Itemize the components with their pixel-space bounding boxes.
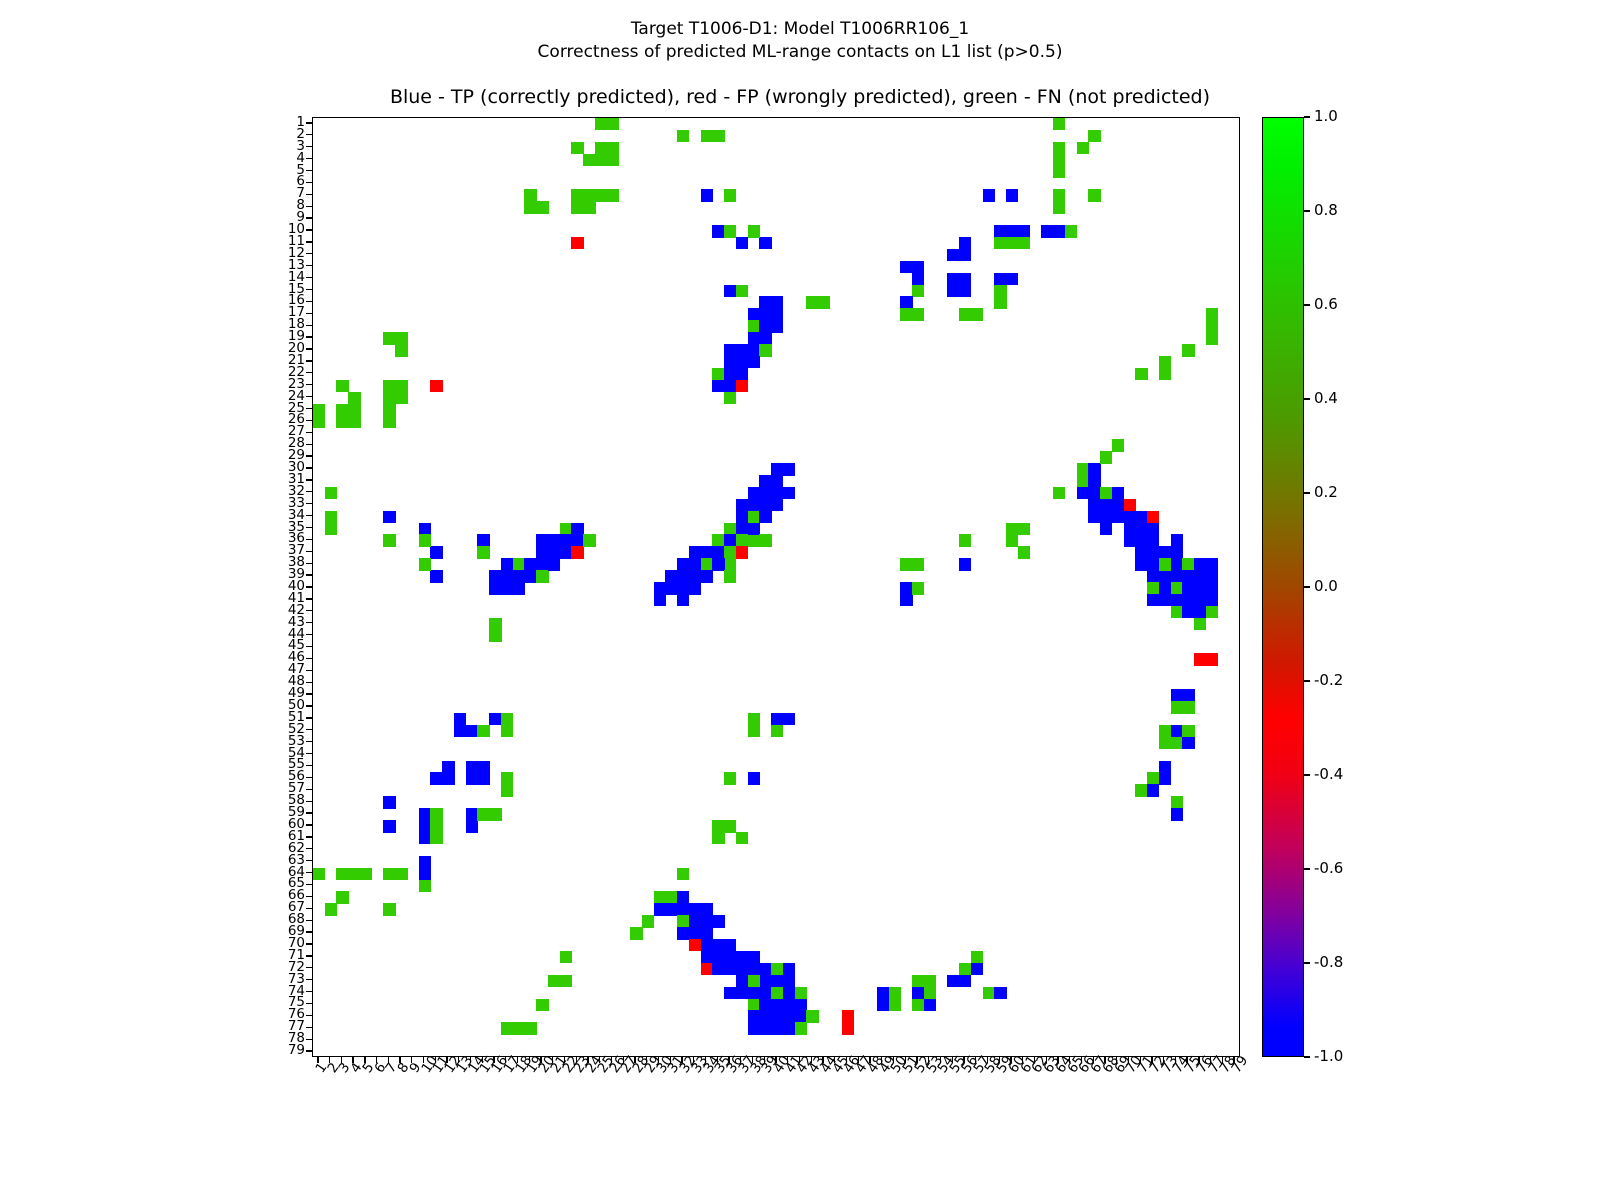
contact-cell-tp — [712, 546, 724, 558]
contact-cell-fn — [724, 225, 736, 237]
contact-cell-tp — [677, 570, 689, 582]
contact-cell-fn — [795, 1022, 807, 1034]
contact-cell-tp — [983, 189, 995, 201]
contact-cell-tp — [759, 1022, 771, 1034]
contact-cell-fn — [1112, 439, 1124, 451]
contact-cell-tp — [1006, 189, 1018, 201]
contact-cell-tp — [548, 534, 560, 546]
contact-cell-tp — [783, 1010, 795, 1022]
contact-cell-tp — [783, 487, 795, 499]
contact-cell-tp — [1171, 558, 1183, 570]
contact-cell-tp — [712, 915, 724, 927]
colorbar-tick-label: -0.2 — [1314, 673, 1343, 687]
contact-cell-tp — [689, 927, 701, 939]
contact-cell-fn — [583, 189, 595, 201]
contact-cell-tp — [677, 594, 689, 606]
contact-cell-tp — [759, 1010, 771, 1022]
contact-cell-fn — [607, 118, 619, 130]
contact-cell-tp — [419, 808, 431, 820]
contact-cell-tp — [1159, 772, 1171, 784]
contact-cell-tp — [689, 546, 701, 558]
y-tick-mark — [306, 1027, 312, 1028]
contact-cell-tp — [1088, 475, 1100, 487]
contact-cell-fn — [912, 975, 924, 987]
contact-cell-tp — [759, 320, 771, 332]
contact-cell-fn — [1053, 154, 1065, 166]
contact-cell-fn — [748, 534, 760, 546]
contact-cell-tp — [924, 999, 936, 1011]
contact-cell-fn — [1159, 368, 1171, 380]
contact-cell-fn — [1053, 487, 1065, 499]
contact-cell-fn — [313, 404, 325, 416]
contact-cell-fn — [501, 725, 513, 737]
contact-cell-tp — [1006, 273, 1018, 285]
contact-map-plot[interactable] — [312, 117, 1240, 1057]
contact-cell-fn — [571, 142, 583, 154]
contact-cell-tp — [689, 570, 701, 582]
y-tick-mark — [306, 658, 312, 659]
contact-cell-tp — [419, 856, 431, 868]
contact-cell-tp — [701, 546, 713, 558]
contact-cell-tp — [712, 963, 724, 975]
contact-cell-fn — [759, 344, 771, 356]
contact-cell-tp — [1182, 594, 1194, 606]
contact-cell-tp — [724, 939, 736, 951]
contact-cell-fn — [336, 868, 348, 880]
contact-cell-tp — [748, 1022, 760, 1034]
contact-cell-tp — [1171, 546, 1183, 558]
y-tick-mark — [306, 705, 312, 706]
contact-cell-tp — [748, 772, 760, 784]
contact-cell-tp — [548, 558, 560, 570]
contact-cell-fn — [724, 546, 736, 558]
colorbar-tick-label: 0.4 — [1314, 391, 1338, 405]
contact-cell-fn — [395, 344, 407, 356]
y-tick-mark — [306, 1015, 312, 1016]
contact-cell-fn — [1159, 725, 1171, 737]
contact-cell-fn — [419, 534, 431, 546]
colorbar-tick-label: 0.8 — [1314, 203, 1338, 217]
contact-cell-tp — [501, 570, 513, 582]
y-tick-mark — [306, 955, 312, 956]
contact-cell-fn — [806, 1010, 818, 1022]
contact-cell-fn — [748, 511, 760, 523]
contact-cell-fn — [430, 808, 442, 820]
contact-cell-fn — [712, 832, 724, 844]
contact-cell-tp — [1147, 784, 1159, 796]
y-tick-mark — [306, 122, 312, 123]
contact-cell-fn — [736, 534, 748, 546]
contact-cell-tp — [947, 249, 959, 261]
contact-cell-tp — [665, 582, 677, 594]
contact-cell-tp — [1077, 487, 1089, 499]
contact-cell-tp — [1041, 225, 1053, 237]
contact-cell-tp — [524, 570, 536, 582]
contact-cell-fn — [336, 404, 348, 416]
contact-cell-fn — [712, 130, 724, 142]
contact-cell-tp — [783, 975, 795, 987]
contact-cell-tp — [654, 903, 666, 915]
contact-cell-fn — [1006, 534, 1018, 546]
contact-cell-fn — [712, 534, 724, 546]
contact-cell-fn — [348, 392, 360, 404]
contact-cell-tp — [748, 356, 760, 368]
contact-cell-tp — [759, 308, 771, 320]
contact-cell-tp — [383, 820, 395, 832]
figure-title: Target T1006-D1: Model T1006RR106_1 Corr… — [0, 18, 1600, 64]
y-tick-mark — [306, 301, 312, 302]
contact-cell-fn — [959, 308, 971, 320]
contact-cell-tp — [947, 975, 959, 987]
contact-cell-tp — [759, 475, 771, 487]
contact-cell-tp — [736, 499, 748, 511]
contact-cell-fn — [489, 618, 501, 630]
contact-cell-fn — [1053, 189, 1065, 201]
contact-cell-tp — [1135, 558, 1147, 570]
y-tick-mark — [306, 325, 312, 326]
contact-cell-fn — [1171, 606, 1183, 618]
contact-cell-tp — [783, 963, 795, 975]
y-tick-mark — [306, 253, 312, 254]
contact-cell-fn — [1182, 558, 1194, 570]
contact-cell-tp — [513, 570, 525, 582]
y-tick-mark — [306, 432, 312, 433]
contact-cell-fn — [1053, 118, 1065, 130]
contact-cell-fn — [1182, 725, 1194, 737]
y-tick-mark — [306, 241, 312, 242]
y-tick-mark — [306, 670, 312, 671]
contact-cell-tp — [689, 915, 701, 927]
contact-cell-fp — [842, 1010, 854, 1022]
contact-cell-tp — [513, 582, 525, 594]
contact-cell-tp — [736, 237, 748, 249]
contact-cell-tp — [466, 772, 478, 784]
contact-cell-tp — [771, 499, 783, 511]
contact-cell-fn — [1159, 737, 1171, 749]
y-tick-mark — [306, 503, 312, 504]
contact-cell-tp — [736, 951, 748, 963]
contact-cell-tp — [1100, 511, 1112, 523]
contact-cell-tp — [489, 570, 501, 582]
contact-cell-tp — [912, 273, 924, 285]
contact-cell-fn — [900, 308, 912, 320]
contact-cell-tp — [1171, 808, 1183, 820]
contact-cell-fn — [477, 725, 489, 737]
colorbar-tick-label: -0.8 — [1314, 955, 1343, 969]
contact-cell-tp — [524, 558, 536, 570]
contact-cell-fn — [900, 558, 912, 570]
contact-cell-tp — [477, 772, 489, 784]
y-tick-mark — [306, 408, 312, 409]
y-tick-label: 79 — [288, 1044, 305, 1056]
y-tick-mark — [306, 134, 312, 135]
y-tick-mark — [306, 622, 312, 623]
contact-cell-fp — [571, 237, 583, 249]
contact-cell-tp — [1159, 761, 1171, 773]
contact-cell-fn — [912, 285, 924, 297]
contact-cell-tp — [1194, 570, 1206, 582]
contact-cell-tp — [689, 582, 701, 594]
contact-cell-fn — [383, 392, 395, 404]
y-tick-mark — [306, 979, 312, 980]
contact-cell-fn — [536, 999, 548, 1011]
contact-cell-fn — [501, 784, 513, 796]
contact-cell-fn — [336, 380, 348, 392]
contact-cell-tp — [712, 939, 724, 951]
contact-cell-tp — [783, 713, 795, 725]
contact-cell-tp — [748, 308, 760, 320]
y-tick-mark — [306, 741, 312, 742]
contact-cell-fn — [524, 201, 536, 213]
contact-cell-fn — [1100, 451, 1112, 463]
contact-cell-fp — [1147, 511, 1159, 523]
contact-cell-tp — [877, 987, 889, 999]
contact-cell-fn — [536, 570, 548, 582]
contact-cell-tp — [1135, 511, 1147, 523]
contact-cell-fn — [383, 332, 395, 344]
contact-cell-fn — [724, 558, 736, 570]
contact-cell-fn — [595, 189, 607, 201]
contact-cell-fn — [325, 511, 337, 523]
contact-cell-tp — [712, 380, 724, 392]
y-tick-mark — [306, 884, 312, 885]
contact-cell-tp — [783, 999, 795, 1011]
colorbar-tick-label: -0.6 — [1314, 861, 1343, 875]
y-tick-mark — [306, 574, 312, 575]
contact-cell-tp — [1006, 225, 1018, 237]
contact-cell-tp — [748, 1010, 760, 1022]
contact-cell-tp — [1088, 511, 1100, 523]
contact-cell-tp — [771, 1010, 783, 1022]
contact-cell-fn — [395, 332, 407, 344]
contact-cell-fn — [513, 1022, 525, 1034]
contact-cell-fn — [501, 1022, 513, 1034]
contact-cell-tp — [1147, 534, 1159, 546]
y-tick-mark — [306, 515, 312, 516]
y-tick-mark — [306, 967, 312, 968]
contact-cell-fn — [994, 285, 1006, 297]
contact-cell-tp — [724, 963, 736, 975]
contact-cell-fp — [736, 546, 748, 558]
contact-cell-fn — [677, 915, 689, 927]
contact-cell-tp — [759, 999, 771, 1011]
y-tick-mark — [306, 229, 312, 230]
contact-cell-tp — [489, 713, 501, 725]
contact-cell-tp — [748, 987, 760, 999]
contact-cell-fp — [701, 963, 713, 975]
contact-cell-tp — [1206, 594, 1218, 606]
y-tick-mark — [306, 277, 312, 278]
colorbar-tick-mark — [1304, 492, 1310, 493]
contact-cell-fn — [654, 891, 666, 903]
contact-cell-tp — [959, 558, 971, 570]
contact-cell-fn — [430, 832, 442, 844]
y-tick-mark — [306, 789, 312, 790]
contact-cell-tp — [959, 273, 971, 285]
contact-cell-tp — [571, 534, 583, 546]
contact-cell-tp — [959, 249, 971, 261]
contact-cell-tp — [442, 772, 454, 784]
contact-cell-tp — [900, 296, 912, 308]
legend-description: Blue - TP (correctly predicted), red - F… — [0, 86, 1600, 108]
title-line-2: Correctness of predicted ML-range contac… — [0, 41, 1600, 64]
contact-cell-tp — [736, 975, 748, 987]
contact-cell-fn — [489, 808, 501, 820]
y-tick-mark — [306, 586, 312, 587]
y-tick-mark — [306, 182, 312, 183]
contact-cell-tp — [560, 534, 572, 546]
contact-cell-tp — [501, 582, 513, 594]
contact-cell-fn — [501, 713, 513, 725]
contact-cell-tp — [1171, 570, 1183, 582]
colorbar-tick-mark — [1304, 304, 1310, 305]
contact-cell-fn — [560, 951, 572, 963]
contact-cell-tp — [1159, 570, 1171, 582]
contact-cell-fp — [1124, 499, 1136, 511]
y-tick-mark — [306, 479, 312, 480]
contact-cell-tp — [419, 523, 431, 535]
contact-cell-fn — [771, 987, 783, 999]
contact-cell-fn — [912, 582, 924, 594]
y-tick-mark — [306, 348, 312, 349]
contact-cell-fn — [724, 189, 736, 201]
figure-subtitle: Blue - TP (correctly predicted), red - F… — [0, 86, 1600, 108]
contact-cell-fn — [994, 237, 1006, 249]
contact-cell-tp — [912, 987, 924, 999]
colorbar[interactable] — [1262, 117, 1304, 1057]
y-tick-mark — [306, 646, 312, 647]
contact-cell-fn — [1159, 356, 1171, 368]
contact-cell-tp — [1147, 523, 1159, 535]
contact-cell-tp — [701, 939, 713, 951]
contact-cell-tp — [1124, 534, 1136, 546]
contact-cell-tp — [759, 237, 771, 249]
contact-cell-fn — [724, 523, 736, 535]
contact-cell-tp — [701, 189, 713, 201]
colorbar-tick-label: 0.0 — [1314, 579, 1338, 593]
contact-cell-tp — [1171, 725, 1183, 737]
contact-cell-tp — [1171, 689, 1183, 701]
contact-cell-tp — [1194, 606, 1206, 618]
contact-cell-tp — [783, 987, 795, 999]
contact-cell-tp — [1147, 546, 1159, 558]
y-tick-mark — [306, 1003, 312, 1004]
contact-cell-fn — [1077, 463, 1089, 475]
y-tick-mark — [306, 812, 312, 813]
contact-cell-fn — [1006, 237, 1018, 249]
contact-cell-tp — [1147, 594, 1159, 606]
contact-cell-fn — [1053, 201, 1065, 213]
contact-cell-tp — [771, 1022, 783, 1034]
contact-cell-fn — [701, 558, 713, 570]
contact-cell-fn — [1194, 618, 1206, 630]
contact-cell-fn — [724, 772, 736, 784]
contact-cell-tp — [1159, 582, 1171, 594]
contact-cell-tp — [712, 225, 724, 237]
contact-cell-fp — [689, 939, 701, 951]
contact-cell-fn — [477, 546, 489, 558]
contact-cell-tp — [442, 761, 454, 773]
y-tick-mark — [306, 539, 312, 540]
contact-cell-tp — [900, 582, 912, 594]
contact-cell-tp — [536, 546, 548, 558]
contact-cell-tp — [677, 891, 689, 903]
contact-cell-tp — [1147, 570, 1159, 582]
contact-cell-fn — [395, 392, 407, 404]
contact-cell-tp — [1124, 523, 1136, 535]
contact-cell-tp — [994, 225, 1006, 237]
contact-cell-tp — [736, 368, 748, 380]
y-tick-mark — [306, 491, 312, 492]
contact-cell-tp — [689, 903, 701, 915]
contact-cell-tp — [771, 463, 783, 475]
contact-cell-fn — [1206, 320, 1218, 332]
contact-cell-tp — [748, 332, 760, 344]
contact-cell-tp — [771, 320, 783, 332]
y-tick-mark — [306, 170, 312, 171]
contact-cell-tp — [724, 987, 736, 999]
contact-cell-tp — [430, 570, 442, 582]
contact-cell-tp — [466, 761, 478, 773]
contact-cell-fn — [759, 534, 771, 546]
contact-cell-tp — [759, 963, 771, 975]
contact-cell-tp — [959, 975, 971, 987]
colorbar-tick-mark — [1304, 962, 1310, 963]
contact-cell-fn — [994, 296, 1006, 308]
colorbar-tick-label: -0.4 — [1314, 767, 1343, 781]
y-tick-mark — [306, 206, 312, 207]
contact-cell-fn — [724, 570, 736, 582]
contact-cell-fn — [642, 915, 654, 927]
contact-cell-fn — [383, 903, 395, 915]
contact-cell-fn — [513, 558, 525, 570]
contact-cell-fn — [1018, 237, 1030, 249]
contact-cell-tp — [994, 987, 1006, 999]
contact-cell-fn — [1171, 582, 1183, 594]
y-tick-mark — [306, 717, 312, 718]
y-tick-mark — [306, 598, 312, 599]
contact-cell-fn — [1206, 308, 1218, 320]
contact-cell-fn — [383, 404, 395, 416]
contact-cell-tp — [654, 594, 666, 606]
contact-cell-fn — [701, 130, 713, 142]
contact-cell-tp — [1182, 570, 1194, 582]
contact-cell-tp — [712, 558, 724, 570]
y-tick-mark — [306, 872, 312, 873]
contact-cell-tp — [759, 296, 771, 308]
contact-cell-fn — [348, 868, 360, 880]
contact-cell-fn — [1206, 606, 1218, 618]
contact-cell-tp — [1171, 594, 1183, 606]
contact-cell-tp — [560, 546, 572, 558]
contact-cell-tp — [736, 356, 748, 368]
contact-cell-fn — [771, 963, 783, 975]
contact-cell-fn — [736, 285, 748, 297]
contact-cell-tp — [783, 1022, 795, 1034]
contact-cell-fn — [1018, 546, 1030, 558]
contact-cell-fn — [325, 523, 337, 535]
contact-cell-fn — [818, 296, 830, 308]
contact-cell-fn — [912, 999, 924, 1011]
contact-cell-tp — [454, 725, 466, 737]
y-tick-mark — [306, 682, 312, 683]
contact-cell-fn — [583, 154, 595, 166]
contact-cell-tp — [1135, 523, 1147, 535]
contact-cell-tp — [724, 534, 736, 546]
contact-cell-fp — [1194, 653, 1206, 665]
contact-cell-tp — [430, 546, 442, 558]
contact-cell-fn — [1147, 772, 1159, 784]
